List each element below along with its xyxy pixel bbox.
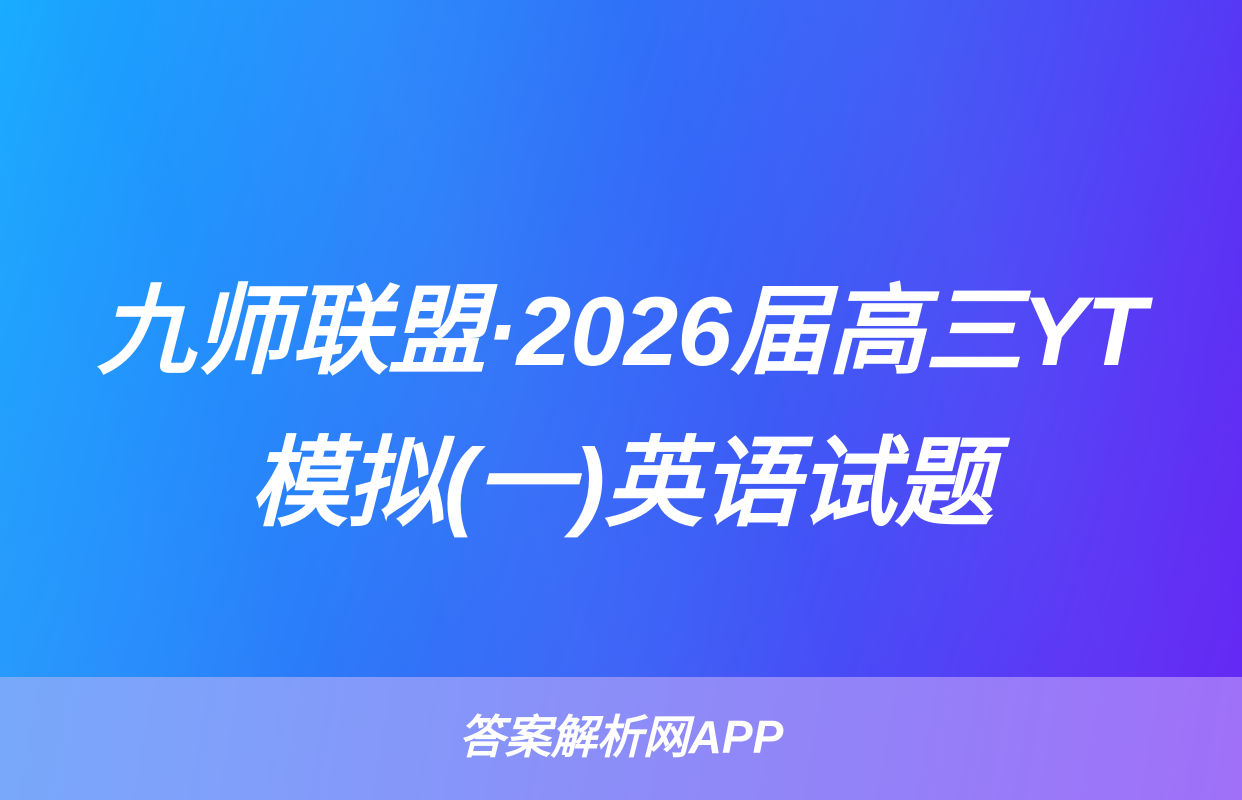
footer-brand-band: 答案解析网APP	[0, 677, 1242, 800]
exam-cover-banner: 九师联盟·2026届高三YT 模拟(一)英语试题 答案解析网APP	[0, 0, 1242, 800]
app-brand-label: 答案解析网APP	[459, 714, 784, 764]
hero-gradient-background: 九师联盟·2026届高三YT 模拟(一)英语试题	[0, 0, 1242, 677]
page-title: 九师联盟·2026届高三YT 模拟(一)英语试题	[0, 255, 1242, 559]
title-line-1: 九师联盟·2026届高三YT	[0, 255, 1242, 407]
title-line-2: 模拟(一)英语试题	[0, 407, 1242, 559]
